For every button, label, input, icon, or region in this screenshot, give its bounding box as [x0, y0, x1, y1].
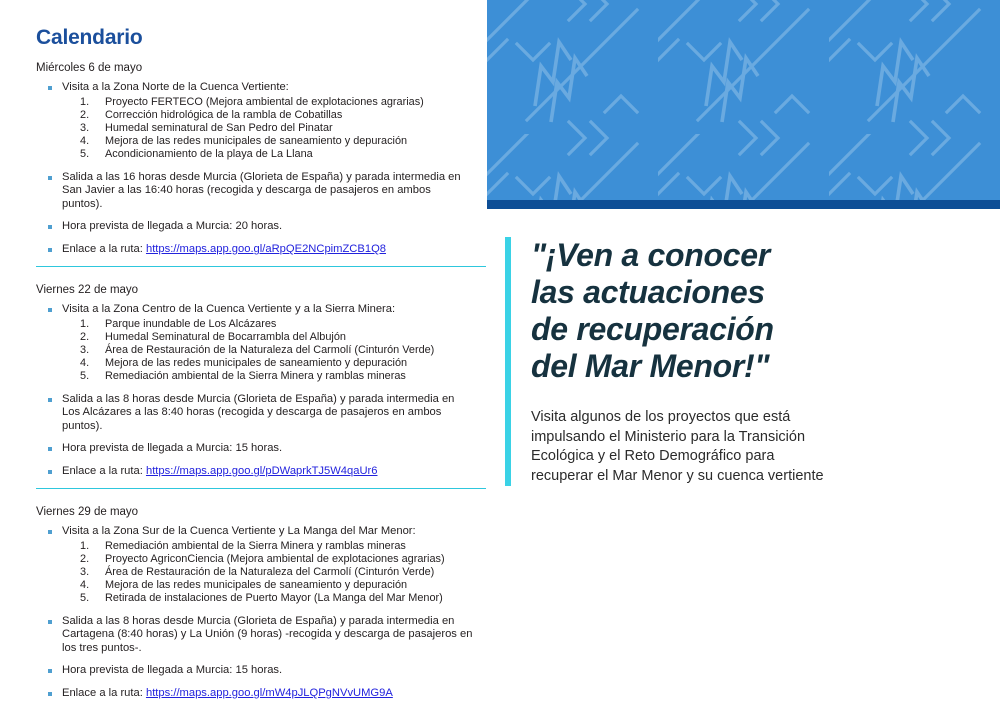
bullet-list: Visita a la Zona Centro de la Cuenca Ver…	[36, 303, 473, 479]
hero-banner	[487, 0, 1000, 200]
day-heading: Miércoles 6 de mayo	[36, 62, 473, 74]
visit-item: Proyecto FERTECO (Mejora ambiental de ex…	[62, 96, 473, 109]
route-link[interactable]: https://maps.app.goo.gl/pDWaprkTJ5W4qaUr…	[146, 465, 378, 477]
visit-item: Remediación ambiental de la Sierra Miner…	[62, 370, 473, 383]
calendar-column: Calendario Miércoles 6 de mayo Visita a …	[0, 0, 487, 707]
spacer	[36, 267, 473, 284]
route-link-bullet: Enlace a la ruta: https://maps.app.goo.g…	[36, 465, 473, 479]
arrival-bullet: Hora prevista de llegada a Murcia: 20 ho…	[36, 220, 473, 234]
departure-bullet: Salida a las 16 horas desde Murcia (Glor…	[36, 171, 473, 212]
visit-item: Retirada de instalaciones de Puerto Mayo…	[62, 592, 473, 605]
route-link-label: Enlace a la ruta:	[62, 687, 146, 699]
arrival-bullet: Hora prevista de llegada a Murcia: 15 ho…	[36, 442, 473, 456]
visit-intro: Visita a la Zona Centro de la Cuenca Ver…	[62, 303, 395, 315]
day-heading: Viernes 29 de mayo	[36, 506, 473, 518]
promo-column: "¡Ven a conocer las actuaciones de recup…	[487, 0, 1000, 707]
arrival-bullet: Hora prevista de llegada a Murcia: 15 ho…	[36, 664, 473, 678]
visit-intro: Visita a la Zona Sur de la Cuenca Vertie…	[62, 525, 416, 537]
hero-accent-bar	[487, 200, 1000, 209]
visit-item: Proyecto AgriconCiencia (Mejora ambienta…	[62, 553, 473, 566]
visit-item: Mejora de las redes municipales de sanea…	[62, 579, 473, 592]
visit-item-list: Parque inundable de Los Alcázares Humeda…	[62, 318, 473, 384]
visit-item: Mejora de las redes municipales de sanea…	[62, 357, 473, 370]
visit-bullet: Visita a la Zona Norte de la Cuenca Vert…	[36, 81, 473, 162]
visit-item: Parque inundable de Los Alcázares	[62, 318, 473, 331]
quote-body: "¡Ven a conocer las actuaciones de recup…	[531, 237, 1000, 486]
subtitle: Visita algunos de los proyectos que está…	[531, 408, 1000, 486]
route-link[interactable]: https://maps.app.goo.gl/mW4pJLQPgNVvUMG9…	[146, 687, 393, 699]
visit-item: Remediación ambiental de la Sierra Miner…	[62, 540, 473, 553]
bullet-list: Visita a la Zona Sur de la Cuenca Vertie…	[36, 525, 473, 701]
visit-item: Humedal seminatural de San Pedro del Pin…	[62, 122, 473, 135]
route-link-label: Enlace a la ruta:	[62, 243, 146, 255]
quote-block: "¡Ven a conocer las actuaciones de recup…	[505, 237, 1000, 486]
headline: "¡Ven a conocer las actuaciones de recup…	[531, 237, 1000, 385]
visit-item: Humedal Seminatural de Bocarrambla del A…	[62, 331, 473, 344]
visit-intro: Visita a la Zona Norte de la Cuenca Vert…	[62, 81, 289, 93]
route-link-bullet: Enlace a la ruta: https://maps.app.goo.g…	[36, 243, 473, 257]
visit-item-list: Remediación ambiental de la Sierra Miner…	[62, 540, 473, 606]
spacer	[36, 489, 473, 506]
visit-bullet: Visita a la Zona Sur de la Cuenca Vertie…	[36, 525, 473, 606]
departure-bullet: Salida a las 8 horas desde Murcia (Glori…	[36, 615, 473, 656]
brochure-page: Calendario Miércoles 6 de mayo Visita a …	[0, 0, 1000, 707]
visit-item: Área de Restauración de la Naturaleza de…	[62, 344, 473, 357]
visit-item: Mejora de las redes municipales de sanea…	[62, 135, 473, 148]
visit-item-list: Proyecto FERTECO (Mejora ambiental de ex…	[62, 96, 473, 162]
cyan-accent-bar	[505, 237, 511, 486]
visit-item: Área de Restauración de la Naturaleza de…	[62, 566, 473, 579]
wave-pattern-graphic	[487, 0, 1000, 200]
visit-bullet: Visita a la Zona Centro de la Cuenca Ver…	[36, 303, 473, 384]
visit-item: Acondicionamiento de la playa de La Llan…	[62, 148, 473, 161]
route-link-bullet: Enlace a la ruta: https://maps.app.goo.g…	[36, 687, 473, 701]
departure-bullet: Salida a las 8 horas desde Murcia (Glori…	[36, 393, 473, 434]
day-heading: Viernes 22 de mayo	[36, 284, 473, 296]
calendar-section: Miércoles 6 de mayo Visita a la Zona Nor…	[36, 62, 473, 284]
bullet-list: Visita a la Zona Norte de la Cuenca Vert…	[36, 81, 473, 257]
calendar-section: Viernes 22 de mayo Visita a la Zona Cent…	[36, 284, 473, 506]
route-link[interactable]: https://maps.app.goo.gl/aRpQE2NCpimZCB1Q…	[146, 243, 386, 255]
visit-item: Corrección hidrológica de la rambla de C…	[62, 109, 473, 122]
page-title: Calendario	[36, 26, 473, 50]
calendar-section: Viernes 29 de mayo Visita a la Zona Sur …	[36, 506, 473, 701]
route-link-label: Enlace a la ruta:	[62, 465, 146, 477]
